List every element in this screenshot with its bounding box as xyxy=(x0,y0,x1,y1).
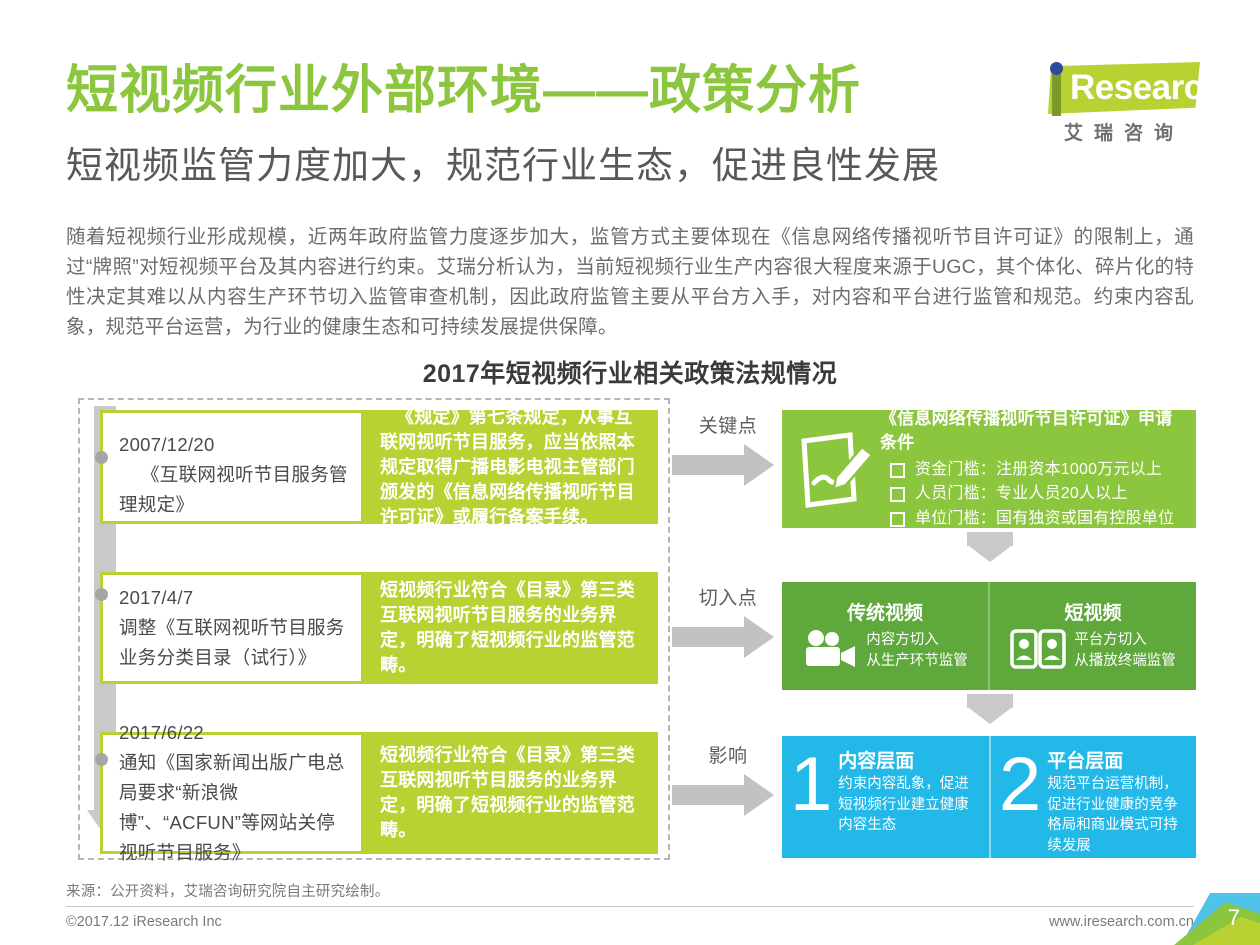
split-row: 内容方切入 从生产环节监管 xyxy=(802,629,968,674)
arrow-head xyxy=(744,774,774,816)
footer-divider xyxy=(66,906,1194,907)
connector-group: 切入点 xyxy=(672,586,784,658)
timeline-row: 2017/6/22 通知《国家新闻出版广电总局要求“新浪微博”、“ACFUN”等… xyxy=(100,732,658,854)
arrow-head xyxy=(744,616,774,658)
down-arrow-icon xyxy=(967,532,1013,562)
impact-title: 平台层面 xyxy=(1047,750,1190,774)
page-title: 短视频行业外部环境——政策分析 xyxy=(66,60,861,122)
license-conditions-panel: 《信息网络传播视听节目许可证》申请条件 资金门槛：注册资本1000万元以上 人员… xyxy=(782,410,1196,528)
checkbox-icon xyxy=(890,463,905,478)
timeline-dot-icon xyxy=(95,753,108,766)
connector-group: 关键点 xyxy=(672,414,784,486)
arrow-head xyxy=(969,708,1011,724)
license-item: 人员门槛：专业人员20人以上 xyxy=(880,482,1188,507)
timeline-desc: 短视频行业符合《目录》第三类互联网视听节目服务的业务界定，明确了短视频行业的监管… xyxy=(380,743,644,843)
arrow-shaft xyxy=(967,532,1013,546)
impact-number: 2 xyxy=(999,750,1047,820)
split-title: 短视频 xyxy=(1064,601,1121,627)
logo-i-dot-icon xyxy=(1050,62,1063,75)
page-number: 7 xyxy=(1228,905,1240,931)
timeline-desc-cell: 短视频行业符合《目录》第三类互联网视听节目服务的业务界定，明确了短视频行业的监管… xyxy=(364,572,658,684)
arrow-head xyxy=(744,444,774,486)
intro-paragraph: 随着短视频行业形成规模，近两年政府监管力度逐步加大，监管方式主要体现在《信息网络… xyxy=(66,222,1194,342)
arrow-shaft xyxy=(672,627,746,647)
license-heading: 《信息网络传播视听节目许可证》申请条件 xyxy=(880,407,1188,455)
checkbox-icon xyxy=(890,512,905,527)
connector-label: 影响 xyxy=(672,744,784,770)
page-subtitle: 短视频监管力度加大，规范行业生态，促进良性发展 xyxy=(66,143,940,189)
split-line: 内容方切入 xyxy=(866,630,968,651)
timeline-date-cell: 2017/4/7 调整《互联网视听节目服务业务分类目录（试行）》 xyxy=(100,572,364,684)
timeline-row: 2007/12/20 《互联网视听节目服务管理规定》 《规定》第七条规定，从事互… xyxy=(100,410,658,524)
right-arrow-icon xyxy=(672,616,784,658)
right-arrow-icon xyxy=(672,444,784,486)
impact-text-block: 平台层面 规范平台运营机制，促进行业健康的竞争格局和商业模式可持续发展 xyxy=(1047,744,1190,856)
connector-group: 影响 xyxy=(672,744,784,816)
figure-title: 2017年短视频行业相关政策法规情况 xyxy=(0,354,1260,390)
impact-body: 规范平台运营机制，促进行业健康的竞争格局和商业模式可持续发展 xyxy=(1047,774,1190,856)
connector-label: 切入点 xyxy=(672,586,784,612)
split-row: 平台方切入 从播放终端监管 xyxy=(1010,629,1176,674)
footer-copyright: ©2017.12 iResearch Inc xyxy=(66,914,222,930)
short-video-cell: 短视频 xyxy=(988,582,1196,690)
logo-i-stem xyxy=(1052,74,1061,116)
impact-panel: 1 内容层面 约束内容乱象，促进短视频行业建立健康内容生态 2 平台层面 规范平… xyxy=(782,736,1196,858)
impact-body: 约束内容乱象，促进短视频行业建立健康内容生态 xyxy=(838,774,983,836)
arrow-shaft xyxy=(967,694,1013,708)
timeline-date: 2017/4/7 xyxy=(119,583,351,613)
timeline-row: 2017/4/7 调整《互联网视听节目服务业务分类目录（试行）》 短视频行业符合… xyxy=(100,572,658,684)
impact-number: 1 xyxy=(790,750,838,820)
checkbox-icon xyxy=(890,487,905,502)
timeline-desc-cell: 短视频行业符合《目录》第三类互联网视听节目服务的业务界定，明确了短视频行业的监管… xyxy=(364,732,658,854)
license-item: 资金门槛：注册资本1000万元以上 xyxy=(880,458,1188,483)
logo-wordmark: Research xyxy=(1070,67,1224,109)
split-lines: 内容方切入 从生产环节监管 xyxy=(866,630,968,672)
timeline-desc: 短视频行业符合《目录》第三类互联网视听节目服务的业务界定，明确了短视频行业的监管… xyxy=(380,578,644,678)
down-arrow-icon xyxy=(967,694,1013,724)
timeline-desc: 《规定》第七条规定，从事互联网视听节目服务，应当依照本规定取得广播电影电视主管部… xyxy=(380,405,644,530)
iresearch-logo: Research 艾瑞咨询 xyxy=(1028,62,1200,148)
split-line: 平台方切入 xyxy=(1074,630,1176,651)
split-line: 从播放终端监管 xyxy=(1074,651,1176,672)
impact-title: 内容层面 xyxy=(838,750,983,774)
timeline-dot-icon xyxy=(95,588,108,601)
split-title: 传统视频 xyxy=(847,601,923,627)
logo-chinese-name: 艾瑞咨询 xyxy=(1048,118,1200,145)
license-item-label: 人员门槛：专业人员20人以上 xyxy=(915,482,1128,507)
split-lines: 平台方切入 从播放终端监管 xyxy=(1074,630,1176,672)
split-line: 从生产环节监管 xyxy=(866,651,968,672)
mobile-phones-icon xyxy=(1010,629,1066,674)
video-camera-icon xyxy=(802,629,858,674)
figure-body: 2007/12/20 《互联网视听节目服务管理规定》 《规定》第七条规定，从事互… xyxy=(66,396,1196,866)
license-text-block: 《信息网络传播视听节目许可证》申请条件 资金门槛：注册资本1000万元以上 人员… xyxy=(876,407,1188,532)
arrow-shaft xyxy=(672,785,746,805)
impact-text-block: 内容层面 约束内容乱象，促进短视频行业建立健康内容生态 xyxy=(838,744,983,836)
timeline-date-cell: 2017/6/22 通知《国家新闻出版广电总局要求“新浪微博”、“ACFUN”等… xyxy=(100,732,364,854)
traditional-video-cell: 传统视频 内容方切入 从生产环节监管 xyxy=(782,582,988,690)
right-arrow-icon xyxy=(672,774,784,816)
impact-cell: 2 平台层面 规范平台运营机制，促进行业健康的竞争格局和商业模式可持续发展 xyxy=(989,736,1196,858)
arrow-head xyxy=(969,546,1011,562)
impact-cell: 1 内容层面 约束内容乱象，促进短视频行业建立健康内容生态 xyxy=(782,736,989,858)
timeline-policy-name: 通知《国家新闻出版广电总局要求“新浪微博”、“ACFUN”等网站关停视听节目服务… xyxy=(119,748,351,868)
timeline-date: 2007/12/20 xyxy=(119,430,351,460)
corner-decoration: 7 xyxy=(1174,893,1260,945)
timeline-date: 2017/6/22 xyxy=(119,718,351,748)
document-pen-icon xyxy=(792,427,876,511)
license-item: 单位门槛：国有独资或国有控股单位 xyxy=(880,507,1188,532)
video-type-split-panel: 传统视频 内容方切入 从生产环节监管 xyxy=(782,582,1196,690)
connector-label: 关键点 xyxy=(672,414,784,440)
source-note: 来源：公开资料，艾瑞咨询研究院自主研究绘制。 xyxy=(66,880,389,901)
footer-website: www.iresearch.com.cn xyxy=(1049,914,1194,930)
timeline-policy-name: 调整《互联网视听节目服务业务分类目录（试行）》 xyxy=(119,613,351,673)
timeline-desc-cell: 《规定》第七条规定，从事互联网视听节目服务，应当依照本规定取得广播电影电视主管部… xyxy=(364,410,658,524)
slide-page: 短视频行业外部环境——政策分析 短视频监管力度加大，规范行业生态，促进良性发展 … xyxy=(0,0,1260,945)
timeline-date-cell: 2007/12/20 《互联网视听节目服务管理规定》 xyxy=(100,410,364,524)
license-item-label: 单位门槛：国有独资或国有控股单位 xyxy=(915,507,1174,532)
timeline-dot-icon xyxy=(95,451,108,464)
timeline-policy-name: 《互联网视听节目服务管理规定》 xyxy=(119,460,351,520)
license-item-label: 资金门槛：注册资本1000万元以上 xyxy=(915,458,1162,483)
arrow-shaft xyxy=(672,455,746,475)
